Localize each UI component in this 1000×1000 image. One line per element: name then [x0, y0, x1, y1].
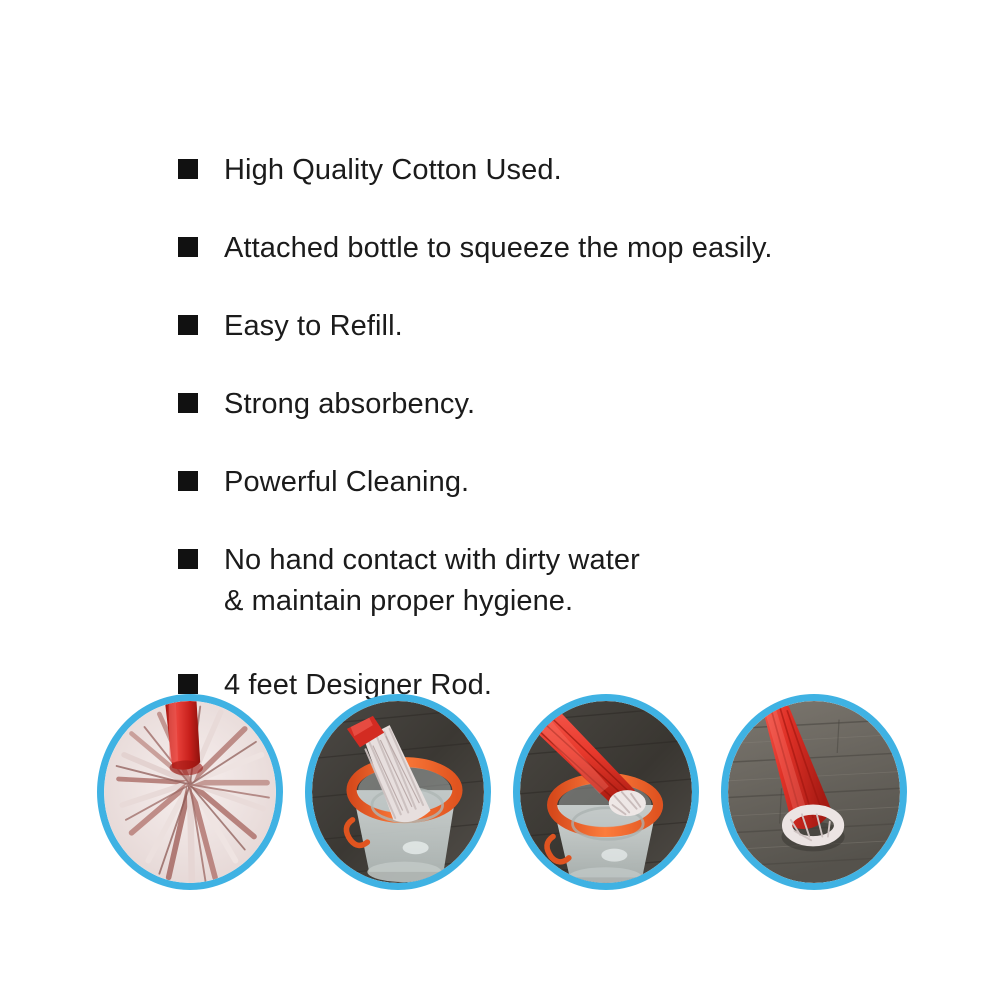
- feature-list: High Quality Cotton Used. Attached bottl…: [178, 150, 918, 743]
- photo-clip: [728, 701, 900, 883]
- product-photo-mop-rod-across-bucket: [513, 694, 699, 890]
- list-item: Attached bottle to squeeze the mop easil…: [178, 228, 918, 269]
- mop-on-wood-floor-image: [728, 701, 900, 883]
- list-item: Strong absorbency.: [178, 384, 918, 425]
- list-item: Powerful Cleaning.: [178, 462, 918, 503]
- feature-text: Attached bottle to squeeze the mop easil…: [224, 228, 773, 269]
- feature-text: Strong absorbency.: [224, 384, 475, 425]
- bullet-square-icon: [178, 393, 198, 413]
- list-item: Easy to Refill.: [178, 306, 918, 347]
- list-item: No hand contact with dirty water & maint…: [178, 540, 918, 622]
- bullet-square-icon: [178, 159, 198, 179]
- bullet-square-icon: [178, 237, 198, 257]
- mop-in-bucket-vertical-image: [312, 701, 484, 883]
- feature-text: High Quality Cotton Used.: [224, 150, 562, 191]
- product-feature-page: High Quality Cotton Used. Attached bottl…: [0, 0, 1000, 1000]
- photo-clip: [104, 701, 276, 883]
- product-photo-mop-in-bucket-vertical: [305, 694, 491, 890]
- product-photo-strip: [97, 692, 907, 892]
- product-photo-mop-head-closeup: [97, 694, 283, 890]
- bullet-square-icon: [178, 674, 198, 694]
- feature-text: No hand contact with dirty water & maint…: [224, 540, 640, 622]
- list-item: High Quality Cotton Used.: [178, 150, 918, 191]
- photo-clip: [312, 701, 484, 883]
- bullet-square-icon: [178, 471, 198, 491]
- mop-rod-across-bucket-image: [520, 701, 692, 883]
- photo-clip: [520, 701, 692, 883]
- bullet-square-icon: [178, 549, 198, 569]
- product-photo-mop-on-wood-floor: [721, 694, 907, 890]
- mop-head-closeup-image: [104, 701, 276, 883]
- feature-text: Easy to Refill.: [224, 306, 403, 347]
- bullet-square-icon: [178, 315, 198, 335]
- feature-text: Powerful Cleaning.: [224, 462, 469, 503]
